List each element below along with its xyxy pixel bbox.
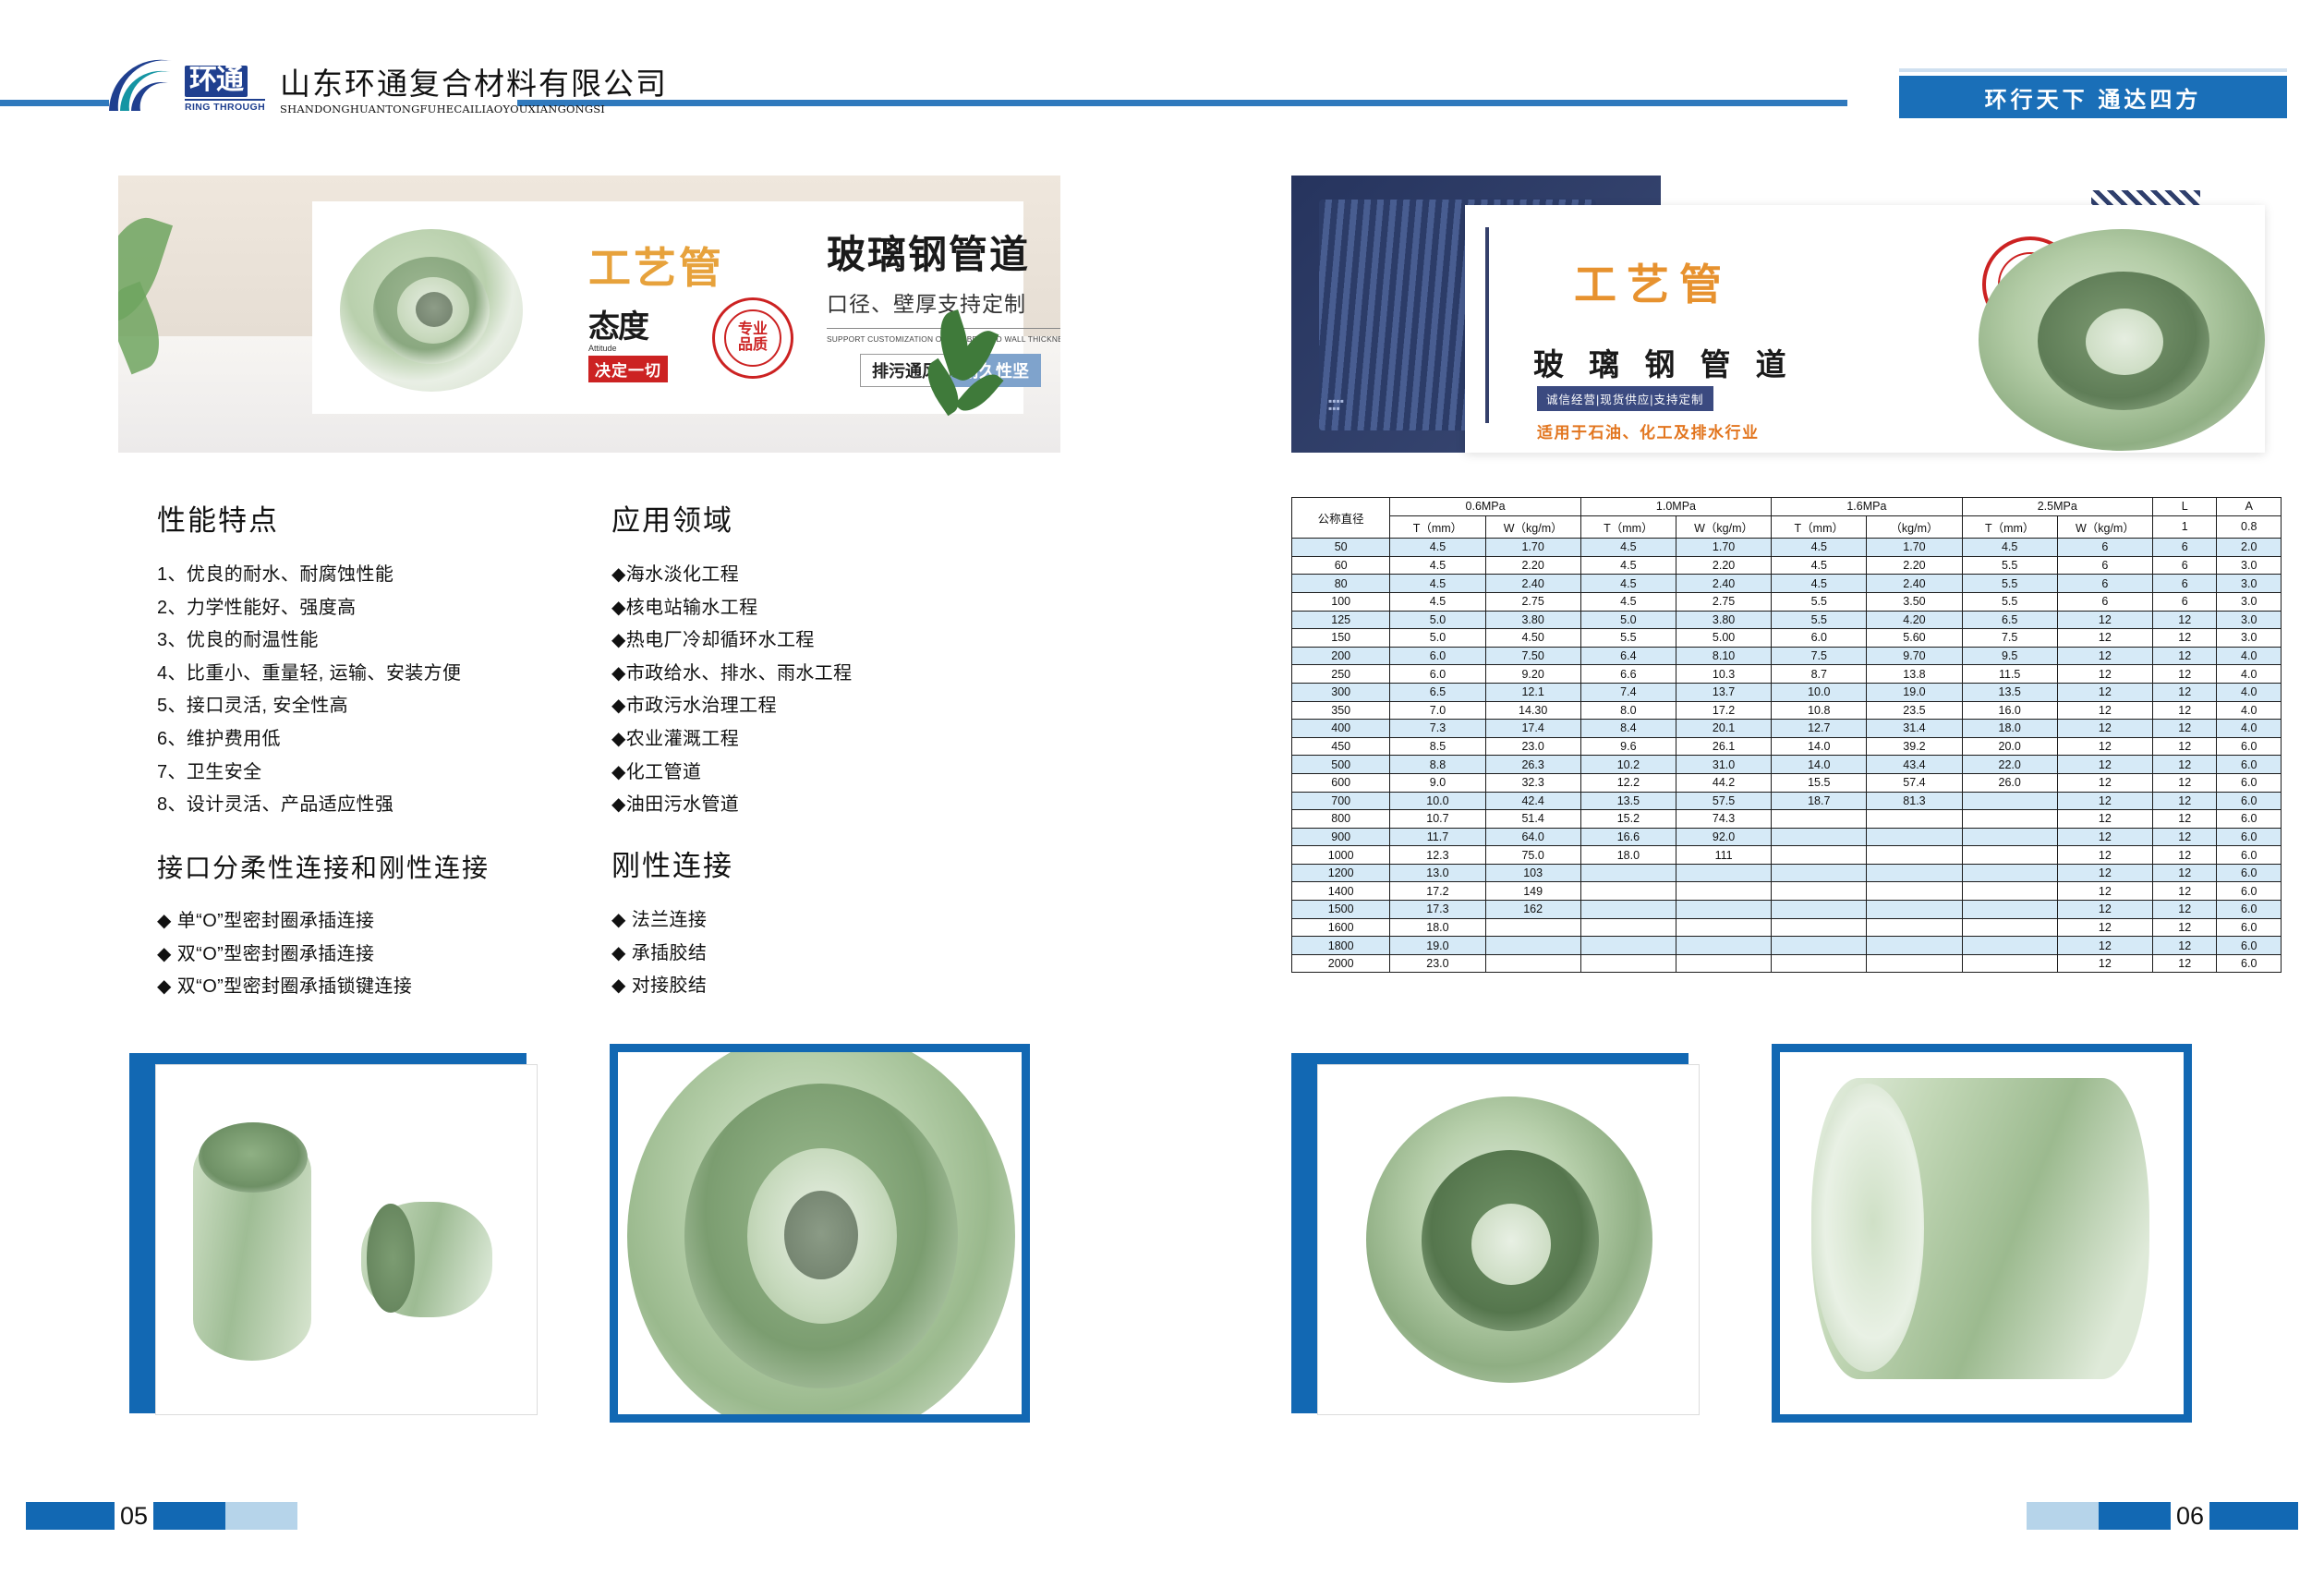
table-cell: 12 — [2057, 828, 2152, 846]
table-cell: 26.1 — [1676, 737, 1771, 756]
table-cell: 17.2 — [1676, 701, 1771, 720]
table-cell: 6.0 — [2217, 846, 2282, 865]
table-cell: 12 — [2152, 864, 2217, 882]
table-cell: 3.50 — [1867, 592, 1962, 611]
table-row: 3507.014.308.017.210.823.516.012124.0 — [1292, 701, 2282, 720]
table-cell: 2.20 — [1485, 556, 1580, 575]
table-cell — [1962, 882, 2057, 901]
header-sub: W（kg/m） — [1485, 515, 1580, 539]
table-row: 140017.214912126.0 — [1292, 882, 2282, 901]
table-cell: 4.5 — [1390, 592, 1485, 611]
table-cell — [1867, 828, 1962, 846]
decor-leaf-icon — [118, 282, 171, 375]
table-cell: 4.5 — [1580, 575, 1676, 593]
table-cell: 22.0 — [1962, 756, 2057, 774]
cell-nominal-diameter: 1600 — [1292, 918, 1390, 937]
table-cell: 4.5 — [1580, 539, 1676, 557]
table-cell — [1485, 954, 1580, 973]
table-cell: 12 — [2152, 629, 2217, 648]
table-header-row-2: T（mm） W（kg/m） T（mm） W（kg/m） T（mm） （kg/m）… — [1292, 515, 2282, 539]
cell-nominal-diameter: 1200 — [1292, 864, 1390, 882]
table-cell: 12 — [2152, 683, 2217, 701]
table-cell — [1867, 882, 1962, 901]
right-product-banner: ▪▪▪▪▪▪▪ 工艺管 玻 璃 钢 管 道 诚信经营|现货供应|支持定制 适用于… — [1291, 176, 2280, 473]
table-cell: 12 — [2057, 954, 2152, 973]
table-cell — [1867, 864, 1962, 882]
table-cell — [1867, 810, 1962, 829]
table-cell: 6.0 — [2217, 756, 2282, 774]
table-cell: 3.80 — [1676, 611, 1771, 629]
rigid-connection-section: 刚性连接 ◆ 法兰连接 ◆ 承插胶结 ◆ 对接胶结 — [611, 842, 981, 1003]
flexible-connection-title: 接口分柔性连接和刚性连接 — [157, 848, 591, 885]
application-item: ◆海水淡化工程 — [611, 559, 999, 592]
company-logo: 环通 RING THROUGH 山东环通复合材料有限公司 SHANDONGHUA… — [103, 54, 668, 113]
table-cell: 12.7 — [1772, 720, 1867, 738]
rigid-connection-item: ◆ 承插胶结 — [611, 938, 981, 971]
table-cell: 6.0 — [2217, 954, 2282, 973]
table-cell — [1580, 937, 1676, 955]
table-cell — [1580, 901, 1676, 919]
table-cell: 13.8 — [1867, 665, 1962, 684]
table-cell — [1962, 954, 2057, 973]
footer-block-light — [225, 1502, 297, 1530]
table-cell: 12 — [2152, 773, 2217, 792]
feature-item: 4、比重小、重量轻, 运输、安装方便 — [157, 658, 554, 691]
table-cell: 8.10 — [1676, 647, 1771, 665]
table-cell: 6 — [2057, 556, 2152, 575]
cell-nominal-diameter: 50 — [1292, 539, 1390, 557]
table-cell: 32.3 — [1485, 773, 1580, 792]
table-cell: 6.5 — [1390, 683, 1485, 701]
table-cell — [1580, 864, 1676, 882]
table-cell: 111 — [1676, 846, 1771, 865]
table-cell: 26.3 — [1485, 756, 1580, 774]
table-cell: 6 — [2057, 575, 2152, 593]
header-tail-group: A — [2217, 498, 2282, 516]
table-cell: 12 — [2057, 720, 2152, 738]
header-nominal-diameter: 公称直径 — [1292, 498, 1390, 539]
table-cell: 18.0 — [1580, 846, 1676, 865]
table-cell: 6 — [2152, 592, 2217, 611]
table-cell: 10.7 — [1390, 810, 1485, 829]
table-cell: 6 — [2152, 575, 2217, 593]
table-cell: 5.60 — [1867, 629, 1962, 648]
table-cell: 31.0 — [1676, 756, 1771, 774]
right-banner-orange-line-1: 适用于石油、化工及排水行业 — [1537, 419, 1760, 442]
table-cell: 4.20 — [1867, 611, 1962, 629]
flexible-connection-section: 接口分柔性连接和刚性连接 ◆ 单“O”型密封圈承插连接 ◆ 双“O”型密封圈承插… — [157, 848, 591, 1004]
table-cell: 23.5 — [1867, 701, 1962, 720]
cell-nominal-diameter: 450 — [1292, 737, 1390, 756]
cell-nominal-diameter: 1800 — [1292, 937, 1390, 955]
cell-nominal-diameter: 600 — [1292, 773, 1390, 792]
table-cell — [1676, 918, 1771, 937]
ring-through-swoosh-icon — [103, 54, 176, 113]
spec-table-body: 504.51.704.51.704.51.704.5662.0604.52.20… — [1292, 539, 2282, 973]
table-cell — [1485, 937, 1580, 955]
feature-item: 8、设计灵活、产品适应性强 — [157, 789, 554, 822]
header-sub: W（kg/m） — [2057, 515, 2152, 539]
table-cell: 5.5 — [1580, 629, 1676, 648]
table-cell: 13.5 — [1962, 683, 2057, 701]
cell-nominal-diameter: 1400 — [1292, 882, 1390, 901]
table-cell: 6.0 — [1390, 647, 1485, 665]
table-cell: 11.5 — [1962, 665, 2057, 684]
table-cell: 5.5 — [1962, 556, 2057, 575]
header-sub: （kg/m） — [1867, 515, 1962, 539]
table-row: 90011.764.016.692.012126.0 — [1292, 828, 2282, 846]
table-cell: 4.0 — [2217, 720, 2282, 738]
table-cell: 4.5 — [1772, 575, 1867, 593]
cell-nominal-diameter: 900 — [1292, 828, 1390, 846]
table-cell: 4.5 — [1580, 556, 1676, 575]
table-cell — [1580, 882, 1676, 901]
table-cell: 1.70 — [1676, 539, 1771, 557]
cell-nominal-diameter: 1500 — [1292, 901, 1390, 919]
table-cell — [1676, 901, 1771, 919]
applications-section: 应用领域 ◆海水淡化工程 ◆核电站输水工程 ◆热电厂冷却循环水工程 ◆市政给水、… — [611, 497, 999, 822]
flexible-connection-item: ◆ 单“O”型密封圈承插连接 — [157, 905, 591, 939]
table-cell — [1962, 937, 2057, 955]
attitude-cn: 态度 — [588, 301, 690, 346]
table-cell: 12 — [2057, 846, 2152, 865]
footer-block-blue — [26, 1502, 115, 1530]
table-cell: 4.5 — [1580, 592, 1676, 611]
cell-nominal-diameter: 60 — [1292, 556, 1390, 575]
table-cell: 6 — [2057, 539, 2152, 557]
table-row: 5008.826.310.231.014.043.422.012126.0 — [1292, 756, 2282, 774]
table-cell: 3.0 — [2217, 629, 2282, 648]
feature-item: 3、优良的耐温性能 — [157, 624, 554, 658]
table-cell: 9.5 — [1962, 647, 2057, 665]
table-cell: 12 — [2057, 901, 2152, 919]
table-cell: 2.20 — [1676, 556, 1771, 575]
header-rule-mid — [517, 100, 1847, 106]
table-cell: 18.0 — [1962, 720, 2057, 738]
table-cell: 5.5 — [1772, 611, 1867, 629]
logo-cn-text: 环通 — [185, 66, 248, 97]
table-cell: 162 — [1485, 901, 1580, 919]
table-cell: 4.5 — [1390, 539, 1485, 557]
table-cell — [1772, 918, 1867, 937]
table-cell — [1772, 937, 1867, 955]
left-photo-small — [155, 1064, 538, 1415]
header-pressure-group: 0.6MPa — [1390, 498, 1580, 516]
right-banner-orange-line-2: 口径、厚度支持定制 — [1537, 449, 1691, 453]
table-cell: 1.70 — [1485, 539, 1580, 557]
header-pressure-group: 1.0MPa — [1580, 498, 1771, 516]
table-cell: 4.5 — [1390, 556, 1485, 575]
rigid-connection-item: ◆ 对接胶结 — [611, 970, 981, 1003]
footer-block-blue — [153, 1502, 225, 1530]
table-cell: 3.0 — [2217, 575, 2282, 593]
attitude-stamp: 态度 Attitude 决定一切 — [588, 301, 690, 382]
table-cell: 5.00 — [1676, 629, 1771, 648]
logo-en-text: RING THROUGH — [185, 99, 265, 113]
table-cell — [1772, 828, 1867, 846]
table-row: 6009.032.312.244.215.557.426.012126.0 — [1292, 773, 2282, 792]
table-cell: 74.3 — [1676, 810, 1771, 829]
table-cell: 14.0 — [1772, 737, 1867, 756]
table-cell: 13.5 — [1580, 792, 1676, 810]
table-cell: 9.20 — [1485, 665, 1580, 684]
table-cell: 8.7 — [1772, 665, 1867, 684]
table-row: 1505.04.505.55.006.05.607.512123.0 — [1292, 629, 2282, 648]
table-cell — [1962, 864, 2057, 882]
header-rule-left — [0, 100, 109, 106]
application-item: ◆化工管道 — [611, 757, 999, 790]
cell-nominal-diameter: 400 — [1292, 720, 1390, 738]
table-cell: 10.2 — [1580, 756, 1676, 774]
table-row: 2006.07.506.48.107.59.709.512124.0 — [1292, 647, 2282, 665]
table-cell: 2.40 — [1867, 575, 1962, 593]
table-cell — [1485, 918, 1580, 937]
table-cell: 4.0 — [2217, 665, 2282, 684]
application-item: ◆市政污水治理工程 — [611, 690, 999, 723]
table-row: 2506.09.206.610.38.713.811.512124.0 — [1292, 665, 2282, 684]
seal-top-text: 专业 — [738, 322, 768, 338]
table-cell: 12 — [2152, 737, 2217, 756]
table-cell: 6.0 — [2217, 792, 2282, 810]
table-cell: 13.7 — [1676, 683, 1771, 701]
footer-right: 06 — [2027, 1502, 2298, 1530]
table-cell: 6 — [2152, 539, 2217, 557]
footer-block-blue — [2209, 1502, 2298, 1530]
table-cell: 6.0 — [2217, 882, 2282, 901]
table-cell: 6.5 — [1962, 611, 2057, 629]
table-cell: 7.3 — [1390, 720, 1485, 738]
table-cell: 20.0 — [1962, 737, 2057, 756]
table-cell: 12 — [2057, 737, 2152, 756]
table-cell: 12 — [2057, 665, 2152, 684]
right-photo-large — [1772, 1044, 2192, 1423]
table-cell: 2.20 — [1867, 556, 1962, 575]
table-cell: 15.5 — [1772, 773, 1867, 792]
cell-nominal-diameter: 800 — [1292, 810, 1390, 829]
cell-nominal-diameter: 150 — [1292, 629, 1390, 648]
header-pressure-group: 2.5MPa — [1962, 498, 2152, 516]
table-cell — [1962, 918, 2057, 937]
table-cell: 3.0 — [2217, 592, 2282, 611]
table-cell: 57.4 — [1867, 773, 1962, 792]
table-cell: 4.0 — [2217, 701, 2282, 720]
table-cell: 20.1 — [1676, 720, 1771, 738]
table-cell: 5.5 — [1962, 575, 2057, 593]
table-cell: 12 — [2152, 882, 2217, 901]
table-cell: 13.0 — [1390, 864, 1485, 882]
table-cell: 8.0 — [1580, 701, 1676, 720]
table-cell: 14.0 — [1772, 756, 1867, 774]
tagline-underline — [1899, 68, 2287, 72]
table-row: 4508.523.09.626.114.039.220.012126.0 — [1292, 737, 2282, 756]
table-cell: 2.75 — [1676, 592, 1771, 611]
table-cell: 12 — [2152, 701, 2217, 720]
table-cell: 6.0 — [2217, 828, 2282, 846]
features-title: 性能特点 — [157, 497, 554, 539]
table-row: 504.51.704.51.704.51.704.5662.0 — [1292, 539, 2282, 557]
header-pressure-group: 1.6MPa — [1772, 498, 1962, 516]
feature-item: 1、优良的耐水、耐腐蚀性能 — [157, 559, 554, 592]
table-cell — [1962, 810, 2057, 829]
table-cell: 12 — [2057, 792, 2152, 810]
table-cell — [1867, 901, 1962, 919]
table-cell: 42.4 — [1485, 792, 1580, 810]
table-cell: 12 — [2152, 846, 2217, 865]
cell-nominal-diameter: 200 — [1292, 647, 1390, 665]
right-banner-accent-bar — [1485, 227, 1489, 423]
table-cell: 7.50 — [1485, 647, 1580, 665]
table-cell: 81.3 — [1867, 792, 1962, 810]
table-cell: 43.4 — [1867, 756, 1962, 774]
table-cell: 6.0 — [2217, 810, 2282, 829]
table-row: 804.52.404.52.404.52.405.5663.0 — [1292, 575, 2282, 593]
table-cell: 16.6 — [1580, 828, 1676, 846]
right-banner-headline: 玻 璃 钢 管 道 — [1533, 340, 1795, 384]
decor-plant-icon — [922, 312, 1007, 451]
table-row: 4007.317.48.420.112.731.418.012124.0 — [1292, 720, 2282, 738]
cell-nominal-diameter: 350 — [1292, 701, 1390, 720]
feature-item: 7、卫生安全 — [157, 757, 554, 790]
table-cell — [1772, 810, 1867, 829]
right-banner-product-label: 工艺管 — [1574, 251, 1732, 312]
table-cell: 3.0 — [2217, 556, 2282, 575]
table-cell: 6.0 — [1772, 629, 1867, 648]
table-cell — [1772, 901, 1867, 919]
table-cell: 19.0 — [1390, 937, 1485, 955]
table-cell: 5.0 — [1390, 611, 1485, 629]
table-cell: 39.2 — [1867, 737, 1962, 756]
table-cell: 6.4 — [1580, 647, 1676, 665]
table-cell: 12 — [2057, 773, 2152, 792]
seal-bottom-text: 品质 — [738, 338, 768, 354]
table-cell: 7.5 — [1772, 647, 1867, 665]
table-cell: 9.0 — [1390, 773, 1485, 792]
table-cell: 19.0 — [1867, 683, 1962, 701]
table-cell: 6.0 — [2217, 901, 2282, 919]
table-cell: 12 — [2057, 937, 2152, 955]
table-cell — [1676, 937, 1771, 955]
application-item: ◆油田污水管道 — [611, 789, 999, 822]
application-item: ◆农业灌溉工程 — [611, 723, 999, 757]
table-cell: 26.0 — [1962, 773, 2057, 792]
left-banner-product-label: 工艺管 — [588, 235, 724, 296]
table-cell: 103 — [1485, 864, 1580, 882]
table-row: 160018.012126.0 — [1292, 918, 2282, 937]
application-item: ◆核电站输水工程 — [611, 592, 999, 625]
cell-nominal-diameter: 1000 — [1292, 846, 1390, 865]
table-row: 150017.316212126.0 — [1292, 901, 2282, 919]
table-cell — [1867, 937, 1962, 955]
specification-table: 公称直径 0.6MPa 1.0MPa 1.6MPa 2.5MPa L A T（m… — [1291, 497, 2282, 973]
spec-table: 公称直径 0.6MPa 1.0MPa 1.6MPa 2.5MPa L A T（m… — [1291, 497, 2282, 973]
table-cell — [1867, 846, 1962, 865]
table-cell: 18.0 — [1390, 918, 1485, 937]
table-cell: 64.0 — [1485, 828, 1580, 846]
table-cell: 5.5 — [1772, 592, 1867, 611]
header-sub: T（mm） — [1580, 515, 1676, 539]
table-cell: 10.0 — [1390, 792, 1485, 810]
banner-pipe-photo — [333, 220, 531, 395]
table-cell: 23.0 — [1485, 737, 1580, 756]
table-row: 3006.512.17.413.710.019.013.512124.0 — [1292, 683, 2282, 701]
header-sub: 1 — [2152, 515, 2217, 539]
header-sub: 0.8 — [2217, 515, 2282, 539]
table-cell — [1676, 864, 1771, 882]
left-product-banner: 工艺管 态度 Attitude 决定一切 专业 品质 玻璃钢管道 口径、壁厚支持… — [118, 176, 1060, 453]
right-photo-small — [1317, 1064, 1700, 1415]
table-cell: 23.0 — [1390, 954, 1485, 973]
left-photo-large — [610, 1044, 1030, 1423]
table-cell: 12 — [2057, 683, 2152, 701]
table-cell: 44.2 — [1676, 773, 1771, 792]
table-cell — [1962, 792, 2057, 810]
table-cell: 7.5 — [1962, 629, 2057, 648]
applications-title: 应用领域 — [611, 497, 999, 539]
table-cell: 6.0 — [2217, 737, 2282, 756]
table-row: 120013.010312126.0 — [1292, 864, 2282, 882]
table-cell: 6 — [2152, 556, 2217, 575]
table-cell — [1962, 828, 2057, 846]
table-cell: 9.6 — [1580, 737, 1676, 756]
table-cell — [1962, 846, 2057, 865]
header-sub: T（mm） — [1962, 515, 2057, 539]
flexible-connection-item: ◆ 双“O”型密封圈承插连接 — [157, 939, 591, 972]
table-cell: 5.0 — [1390, 629, 1485, 648]
cell-nominal-diameter: 300 — [1292, 683, 1390, 701]
table-cell: 75.0 — [1485, 846, 1580, 865]
table-cell: 12 — [2057, 918, 2152, 937]
header-sub: T（mm） — [1390, 515, 1485, 539]
quality-seal-icon: 专业 品质 — [712, 297, 793, 379]
cell-nominal-diameter: 125 — [1292, 611, 1390, 629]
table-row: 1255.03.805.03.805.54.206.512123.0 — [1292, 611, 2282, 629]
table-cell: 10.8 — [1772, 701, 1867, 720]
header-sub: T（mm） — [1772, 515, 1867, 539]
table-cell: 12 — [2152, 954, 2217, 973]
table-cell: 2.0 — [2217, 539, 2282, 557]
cell-nominal-diameter: 700 — [1292, 792, 1390, 810]
table-cell: 2.40 — [1485, 575, 1580, 593]
table-cell: 12.3 — [1390, 846, 1485, 865]
table-cell: 5.5 — [1962, 592, 2057, 611]
header-tail-group: L — [2152, 498, 2217, 516]
table-cell: 4.5 — [1772, 556, 1867, 575]
table-cell: 12 — [2152, 665, 2217, 684]
table-cell: 16.0 — [1962, 701, 2057, 720]
table-cell: 12.2 — [1580, 773, 1676, 792]
company-name-cn: 山东环通复合材料有限公司 — [280, 68, 668, 101]
table-cell: 149 — [1485, 882, 1580, 901]
table-cell: 12 — [2057, 647, 2152, 665]
table-cell: 1.70 — [1867, 539, 1962, 557]
table-cell: 4.50 — [1485, 629, 1580, 648]
table-cell: 9.70 — [1867, 647, 1962, 665]
decor-dots: ▪▪▪▪▪▪▪ — [1328, 397, 1344, 412]
table-cell: 31.4 — [1867, 720, 1962, 738]
application-item: ◆市政给水、排水、雨水工程 — [611, 658, 999, 691]
table-header-row-1: 公称直径 0.6MPa 1.0MPa 1.6MPa 2.5MPa L A — [1292, 498, 2282, 516]
cell-nominal-diameter: 80 — [1292, 575, 1390, 593]
table-cell: 17.4 — [1485, 720, 1580, 738]
table-cell: 12 — [2152, 720, 2217, 738]
table-cell: 3.80 — [1485, 611, 1580, 629]
table-cell: 6.6 — [1580, 665, 1676, 684]
table-cell: 4.5 — [1962, 539, 2057, 557]
table-cell: 57.5 — [1676, 792, 1771, 810]
table-cell: 92.0 — [1676, 828, 1771, 846]
feature-item: 5、接口灵活, 安全性高 — [157, 690, 554, 723]
table-row: 70010.042.413.557.518.781.312126.0 — [1292, 792, 2282, 810]
